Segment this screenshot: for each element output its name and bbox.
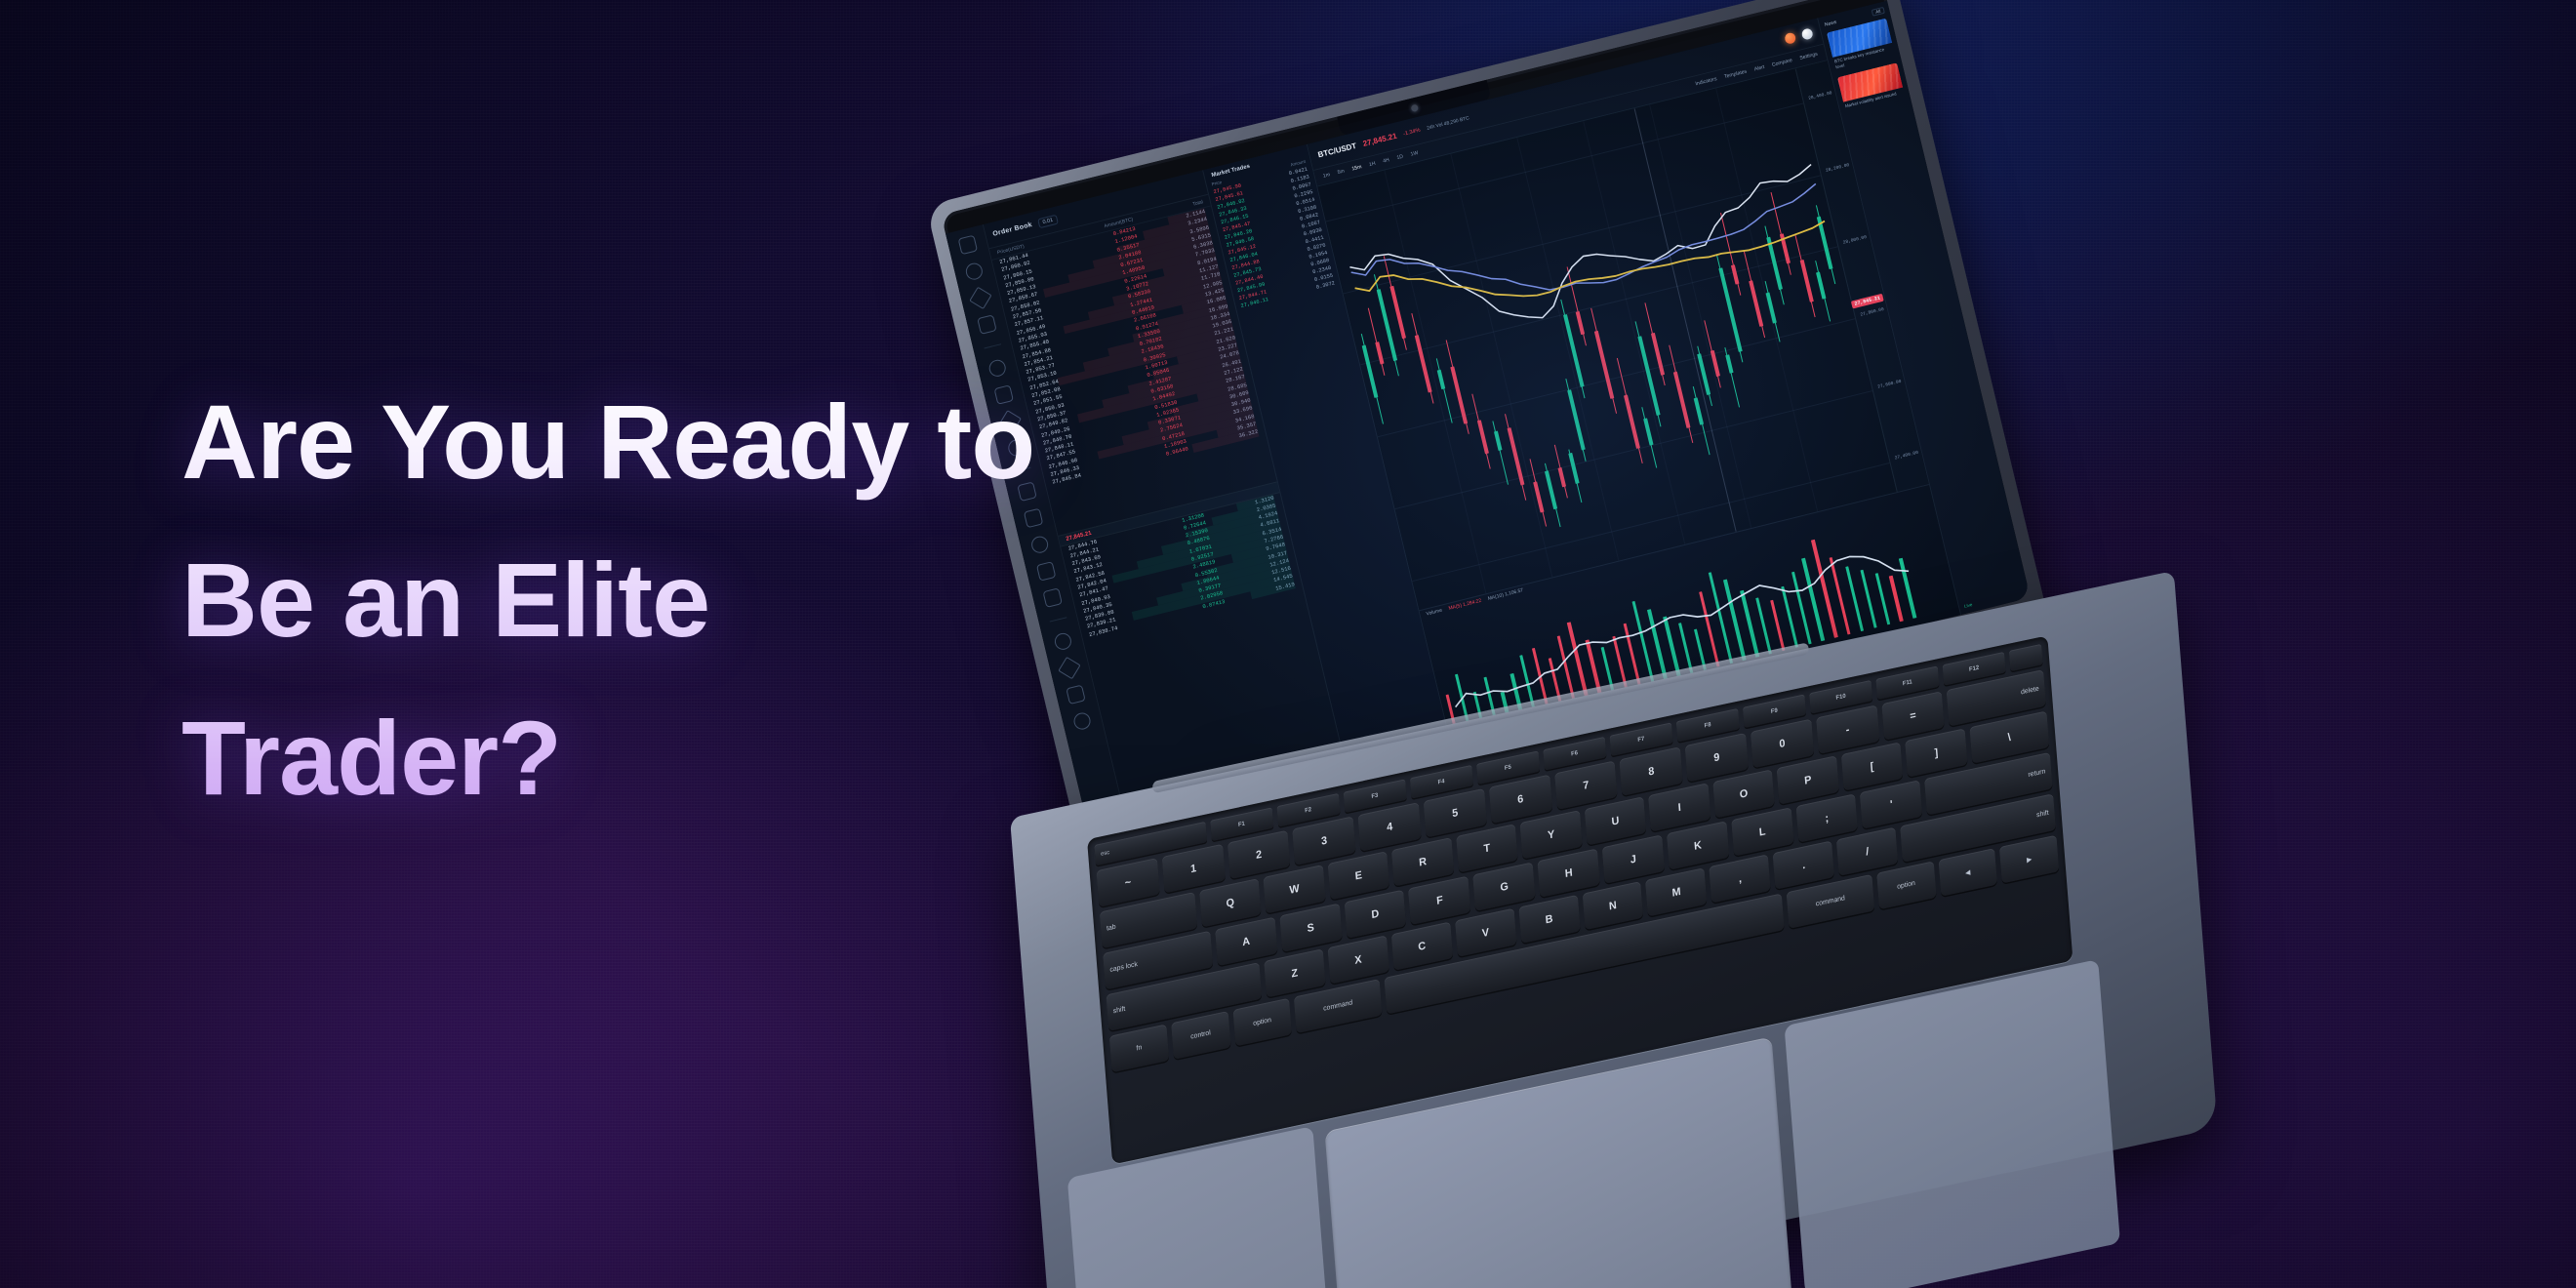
key--[interactable]: = <box>1881 691 1945 741</box>
news-filter-button[interactable]: All <box>1872 7 1885 17</box>
chart-tool-indicators[interactable]: Indicators <box>1695 76 1717 87</box>
key-q[interactable]: Q <box>1199 878 1262 927</box>
key-7[interactable]: 7 <box>1554 760 1618 810</box>
key-o[interactable]: O <box>1712 769 1775 818</box>
key-8[interactable]: 8 <box>1620 746 1683 796</box>
hero-banner: Are You Ready to Be an Elite Trader? Ord… <box>0 0 2576 1288</box>
key-9[interactable]: 9 <box>1685 733 1749 783</box>
palm-rest-left <box>1067 1126 1336 1288</box>
key-control[interactable]: control <box>1171 1011 1230 1060</box>
news-title: News <box>1824 19 1837 27</box>
key-x[interactable]: X <box>1327 935 1389 984</box>
order-book-title: Order Book <box>992 221 1033 238</box>
key--[interactable]: ' <box>1860 780 1922 828</box>
key-0[interactable]: 0 <box>1751 719 1814 769</box>
headline-line-1: Are You Ready to <box>181 363 1352 521</box>
key--[interactable]: ] <box>1905 728 1967 777</box>
volume-title: Volume <box>1426 608 1443 618</box>
account-badge-icon[interactable] <box>1801 27 1814 40</box>
key-g[interactable]: G <box>1472 862 1535 910</box>
price-tick: 28,400.00 <box>1808 91 1832 101</box>
timeframe-1D[interactable]: 1D <box>1396 154 1404 161</box>
key-fn[interactable]: fn <box>1109 1024 1169 1072</box>
key-space[interactable] <box>2009 644 2043 671</box>
key-w[interactable]: W <box>1264 865 1326 913</box>
timeframe-15m[interactable]: 15m <box>1351 164 1362 172</box>
key-r[interactable]: R <box>1391 837 1454 886</box>
key--[interactable]: ; <box>1795 793 1858 842</box>
timeframe-5m[interactable]: 5m <box>1337 169 1345 177</box>
timeframe-1m[interactable]: 1m <box>1322 172 1330 180</box>
key-b[interactable]: B <box>1518 895 1580 944</box>
key-2[interactable]: 2 <box>1228 830 1291 880</box>
key-4[interactable]: 4 <box>1358 802 1422 852</box>
order-book-precision[interactable]: 0.01 <box>1037 214 1059 228</box>
key-k[interactable]: K <box>1667 821 1729 869</box>
key-u[interactable]: U <box>1585 796 1647 845</box>
key-d[interactable]: D <box>1344 890 1406 939</box>
headline-line-2: Be an Elite <box>181 521 1352 679</box>
news-card-2[interactable]: Market volatility alert issued <box>1837 62 1906 111</box>
key--[interactable]: / <box>1836 827 1898 876</box>
key-z[interactable]: Z <box>1264 948 1325 997</box>
headline-line-3: Trader? <box>181 679 1352 837</box>
key-t[interactable]: T <box>1456 824 1518 872</box>
chart-icon[interactable] <box>958 235 978 256</box>
key-a[interactable]: A <box>1215 917 1277 966</box>
price-tick: 27,400.00 <box>1894 451 1918 462</box>
key-option[interactable]: option <box>1232 998 1292 1047</box>
key-y[interactable]: Y <box>1520 810 1583 859</box>
chart-tool-alert[interactable]: Alert <box>1753 64 1765 72</box>
key-n[interactable]: N <box>1582 881 1643 930</box>
key-1[interactable]: 1 <box>1162 844 1226 894</box>
key--[interactable]: [ <box>1841 742 1904 790</box>
trend-icon[interactable] <box>964 262 984 282</box>
key-c[interactable]: C <box>1391 922 1453 971</box>
key-p[interactable]: P <box>1777 755 1839 804</box>
key-v[interactable]: V <box>1455 908 1516 957</box>
key--[interactable]: ▶ <box>1999 835 2059 884</box>
rail-separator <box>984 343 1001 348</box>
key--[interactable]: ◀ <box>1938 848 1997 897</box>
list-icon[interactable] <box>977 314 996 335</box>
chart-change: -1.34% <box>1403 127 1422 137</box>
key-i[interactable]: I <box>1648 783 1711 831</box>
key-option[interactable]: option <box>1876 861 1936 909</box>
key-m[interactable]: M <box>1645 867 1707 916</box>
key-s[interactable]: S <box>1279 904 1342 952</box>
hero-headline: Are You Ready to Be an Elite Trader? <box>181 363 1352 837</box>
key-l[interactable]: L <box>1731 807 1793 856</box>
price-tick: 28,200.00 <box>1826 163 1850 174</box>
timeframe-4H[interactable]: 4H <box>1383 157 1390 164</box>
chart-tool-templates[interactable]: Templates <box>1724 69 1748 81</box>
key--[interactable]: ~ <box>1096 858 1159 907</box>
alert-badge-icon[interactable] <box>1784 32 1796 45</box>
chart-tool-settings[interactable]: Settings <box>1799 52 1819 61</box>
grid-icon[interactable] <box>969 287 991 309</box>
chart-symbol[interactable]: BTC/USDT <box>1317 141 1357 159</box>
key--[interactable]: . <box>1773 840 1834 889</box>
price-tick: 27,600.00 <box>1877 379 1902 389</box>
timeframe-1W[interactable]: 1W <box>1410 150 1419 158</box>
key--[interactable]: - <box>1816 704 1879 754</box>
key-5[interactable]: 5 <box>1424 788 1487 838</box>
price-tick: 28,000.00 <box>1842 235 1867 246</box>
timeframe-1H[interactable]: 1H <box>1368 161 1376 168</box>
key-e[interactable]: E <box>1327 851 1389 900</box>
key-6[interactable]: 6 <box>1489 775 1552 825</box>
chart-tool-compare[interactable]: Compare <box>1771 58 1792 68</box>
key-j[interactable]: J <box>1602 834 1665 883</box>
key-f[interactable]: F <box>1408 876 1470 925</box>
key--[interactable]: , <box>1710 854 1771 903</box>
price-tick: 27,800.00 <box>1860 307 1884 318</box>
key-h[interactable]: H <box>1538 848 1600 897</box>
chart-last-price: 27,845.21 <box>1362 132 1398 148</box>
chart-volume-meta: 24h Vol 48,290 BTC <box>1427 115 1470 132</box>
